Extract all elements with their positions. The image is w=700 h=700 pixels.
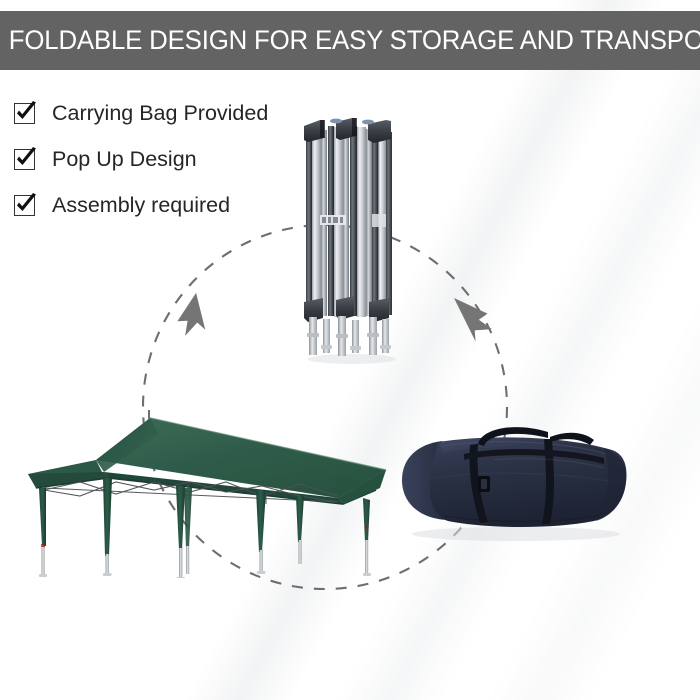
page-title: FOLDABLE DESIGN FOR EASY STORAGE AND TRA…	[0, 25, 700, 56]
frame-leg-stubs	[307, 316, 391, 356]
gazebo-leg	[256, 490, 266, 574]
checkbox-checked-icon	[14, 195, 35, 216]
gazebo-leg	[176, 486, 185, 578]
gazebo-leg	[39, 488, 47, 577]
gazebo-leg	[296, 496, 304, 564]
checkbox-checked-icon	[14, 149, 35, 170]
feature-label: Carrying Bag Provided	[52, 101, 268, 126]
gazebo-leg	[184, 488, 192, 574]
arrow-right-downward	[450, 298, 495, 343]
checkbox-checked-icon	[14, 103, 35, 124]
arrow-left-upward	[172, 293, 206, 337]
folded-frame-bundle	[290, 112, 410, 365]
header-banner: FOLDABLE DESIGN FOR EASY STORAGE AND TRA…	[0, 11, 700, 70]
infographic-page: FOLDABLE DESIGN FOR EASY STORAGE AND TRA…	[0, 0, 700, 700]
navy-carrying-bag	[398, 424, 630, 542]
green-gazebo-canopy	[8, 398, 398, 578]
gazebo-leg	[103, 478, 112, 576]
feature-label: Assembly required	[52, 193, 230, 218]
gazebo-leg	[363, 498, 371, 576]
feature-label: Pop Up Design	[52, 147, 197, 172]
